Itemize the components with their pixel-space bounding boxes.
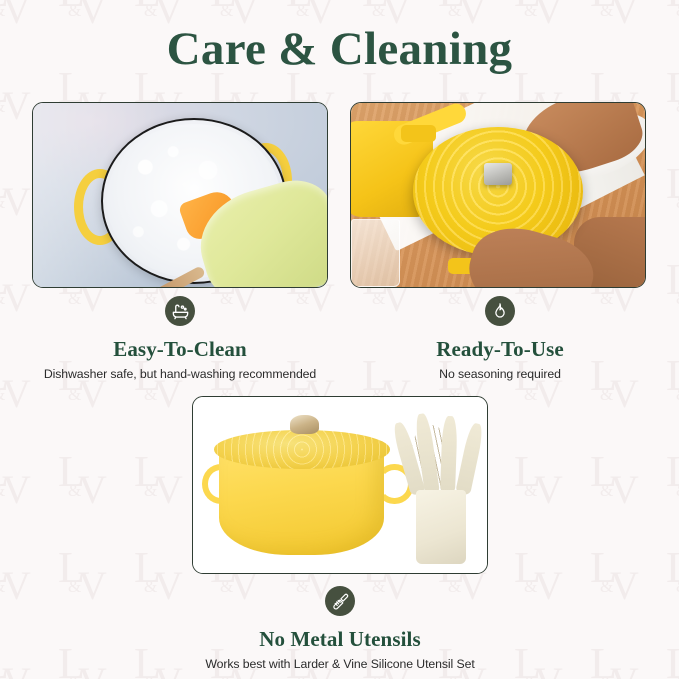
feature-title: No Metal Utensils (170, 627, 510, 651)
care-and-cleaning-infographic: Care & Cleaning (0, 0, 679, 679)
ready-to-use-photo (350, 102, 646, 288)
bathtub-bubbles-icon (165, 296, 195, 326)
feature-description: Dishwasher safe, but hand-washing recomm… (20, 367, 340, 382)
lid-knob (484, 163, 513, 185)
spatula-icon (325, 586, 355, 616)
feature-ready-to-use: Ready-To-Use No seasoning required (340, 296, 660, 383)
product-lid-knob (290, 415, 319, 434)
feature-no-metal-utensils: No Metal Utensils Works best with Larder… (170, 586, 510, 673)
page-title: Care & Cleaning (0, 22, 679, 76)
product-photo (192, 396, 488, 574)
utensil-crock (416, 490, 466, 564)
feature-title: Ready-To-Use (340, 337, 660, 361)
dishwashing-photo (32, 102, 328, 288)
lid-tab-left (401, 125, 436, 142)
feature-easy-to-clean: Easy-To-Clean Dishwasher safe, but hand-… (20, 296, 340, 383)
product-dutch-oven-lid (214, 430, 390, 469)
feature-title: Easy-To-Clean (20, 337, 340, 361)
flame-icon (485, 296, 515, 326)
drinking-glass (351, 219, 400, 287)
feature-description: No seasoning required (340, 367, 660, 382)
feature-description: Works best with Larder & Vine Silicone U… (170, 657, 510, 672)
silicone-utensil (440, 416, 457, 494)
